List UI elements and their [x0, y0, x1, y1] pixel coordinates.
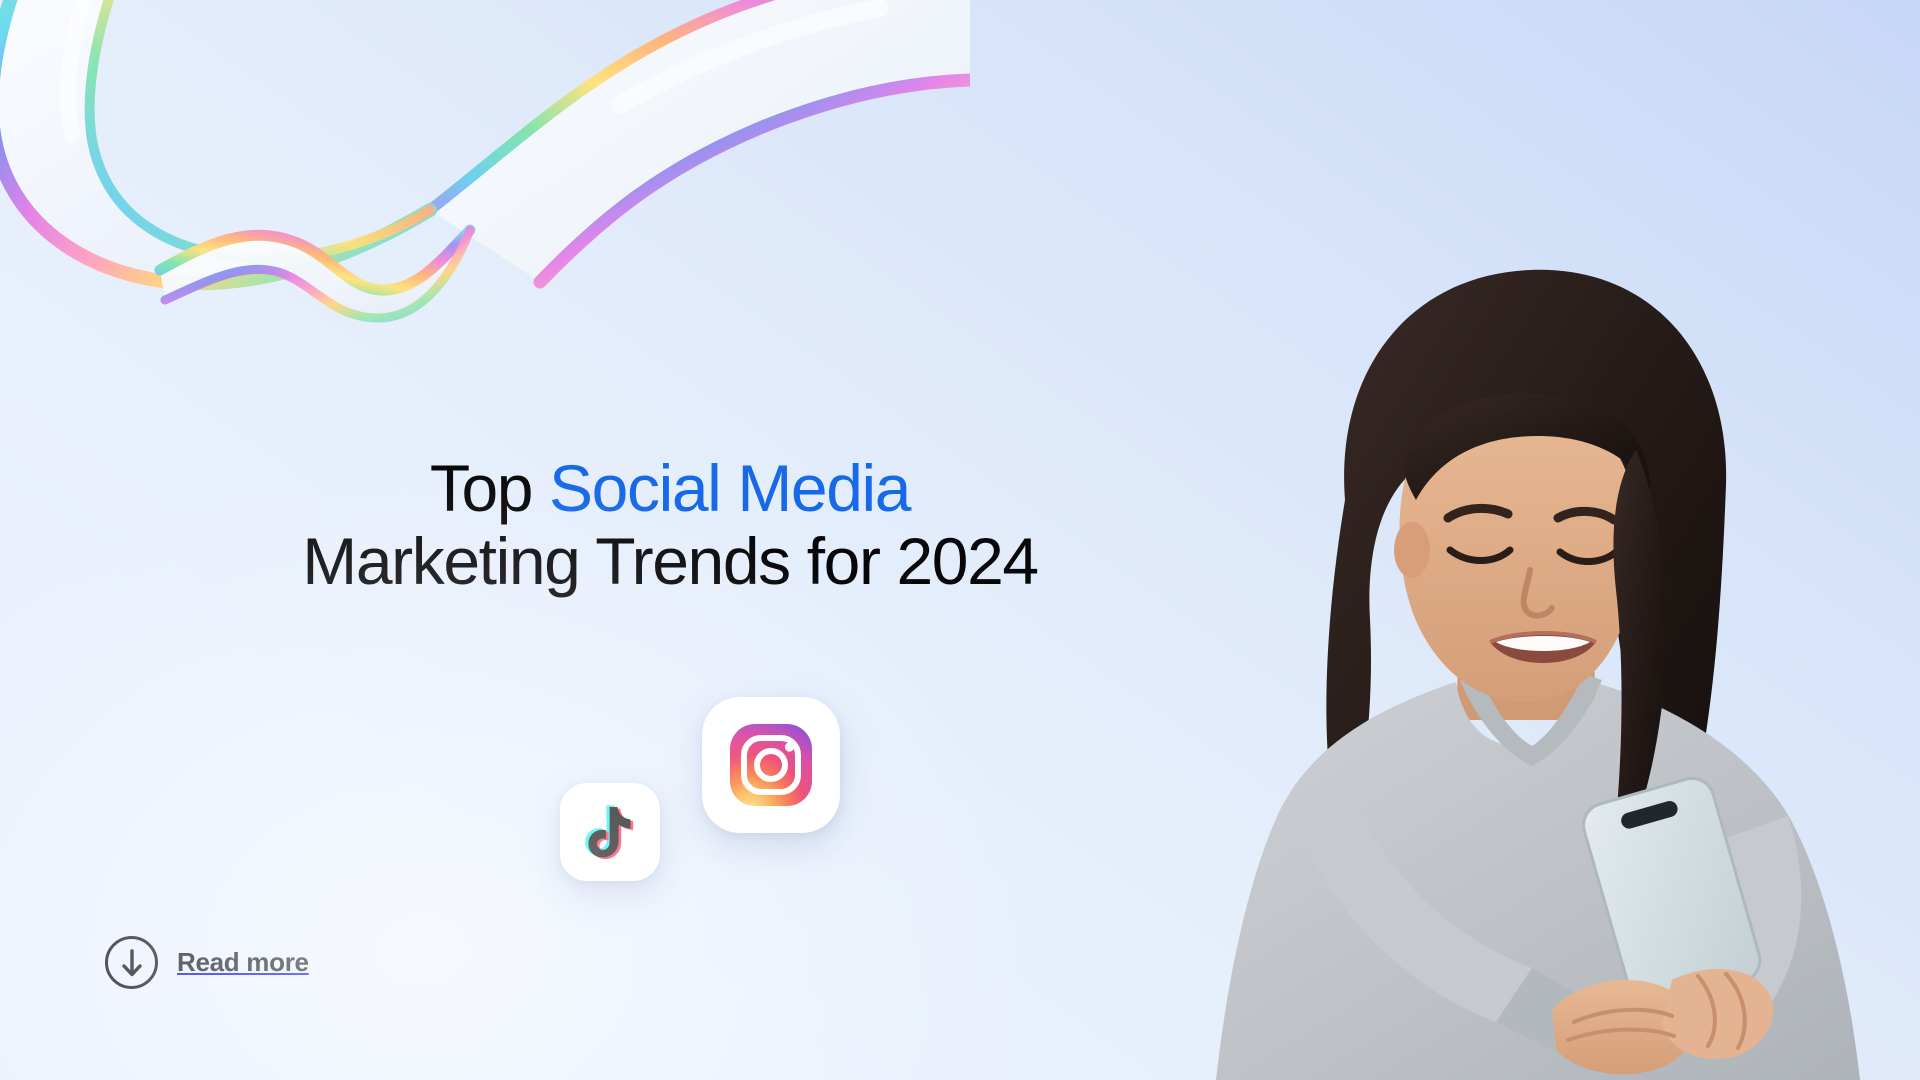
read-more-button[interactable]: Read more [105, 936, 309, 989]
headline-prefix: Top [430, 451, 549, 525]
iridescent-glass-ribbon [0, 0, 970, 360]
page-title: Top Social Media Marketing Trends for 20… [0, 452, 1340, 598]
tiktok-icon[interactable] [560, 783, 660, 881]
headline-line-1: Top Social Media [0, 452, 1340, 525]
arrow-down-circle-icon [105, 936, 158, 989]
headline-line-2: Marketing Trends for 2024 [0, 525, 1340, 598]
instagram-icon[interactable] [702, 697, 840, 833]
hero-section: Top Social Media Marketing Trends for 20… [0, 0, 1920, 1080]
read-more-label: Read more [177, 947, 309, 978]
headline-accent: Social Media [549, 451, 910, 525]
woman-using-smartphone [1160, 250, 1920, 1080]
